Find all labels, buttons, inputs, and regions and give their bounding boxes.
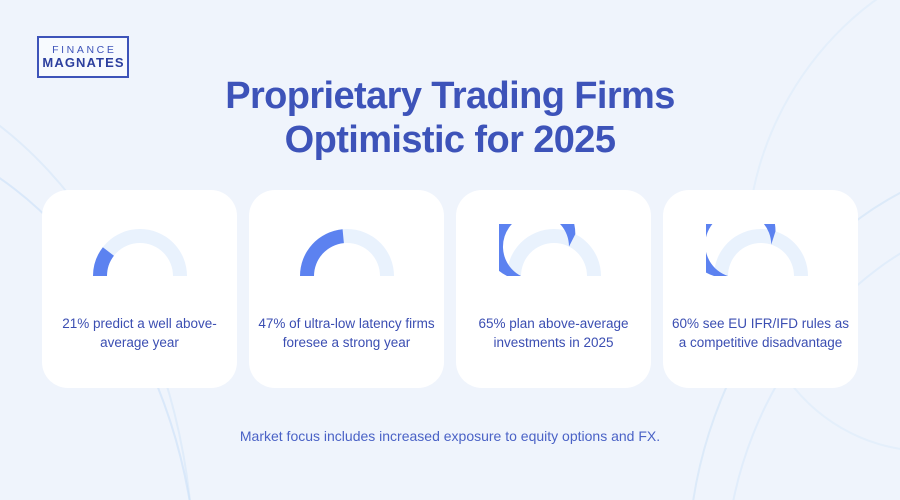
gauge-value-arc [300, 229, 344, 276]
gauge-47 [292, 224, 402, 282]
page-title-line-2: Optimistic for 2025 [0, 118, 900, 162]
logo-bottom-word: MAGNATES [41, 56, 124, 71]
stat-card: 60% see EU IFR/IFD rules as a competitiv… [663, 190, 858, 388]
stat-card-row: 21% predict a well above-average year47%… [42, 190, 858, 388]
gauge-21 [85, 224, 195, 282]
logo-top-word: FINANCE [50, 44, 117, 56]
gauge-track [714, 229, 808, 276]
stat-card: 21% predict a well above-average year [42, 190, 237, 388]
stat-card: 47% of ultra-low latency firms foresee a… [249, 190, 444, 388]
gauge-track [507, 229, 601, 276]
footer-note: Market focus includes increased exposure… [0, 428, 900, 444]
page-title-line-1: Proprietary Trading Firms [0, 74, 900, 118]
stat-card-caption: 47% of ultra-low latency firms foresee a… [257, 314, 436, 352]
finance-magnates-logo: FINANCE MAGNATES [37, 36, 129, 78]
stat-card: 65% plan above-average investments in 20… [456, 190, 651, 388]
infographic-canvas: FINANCE MAGNATES Proprietary Trading Fir… [0, 0, 900, 500]
gauge-60 [706, 224, 816, 282]
stat-card-caption: 60% see EU IFR/IFD rules as a competitiv… [671, 314, 850, 352]
stat-card-caption: 65% plan above-average investments in 20… [464, 314, 643, 352]
gauge-65 [499, 224, 609, 282]
stat-card-caption: 21% predict a well above-average year [50, 314, 229, 352]
page-title: Proprietary Trading Firms Optimistic for… [0, 74, 900, 162]
